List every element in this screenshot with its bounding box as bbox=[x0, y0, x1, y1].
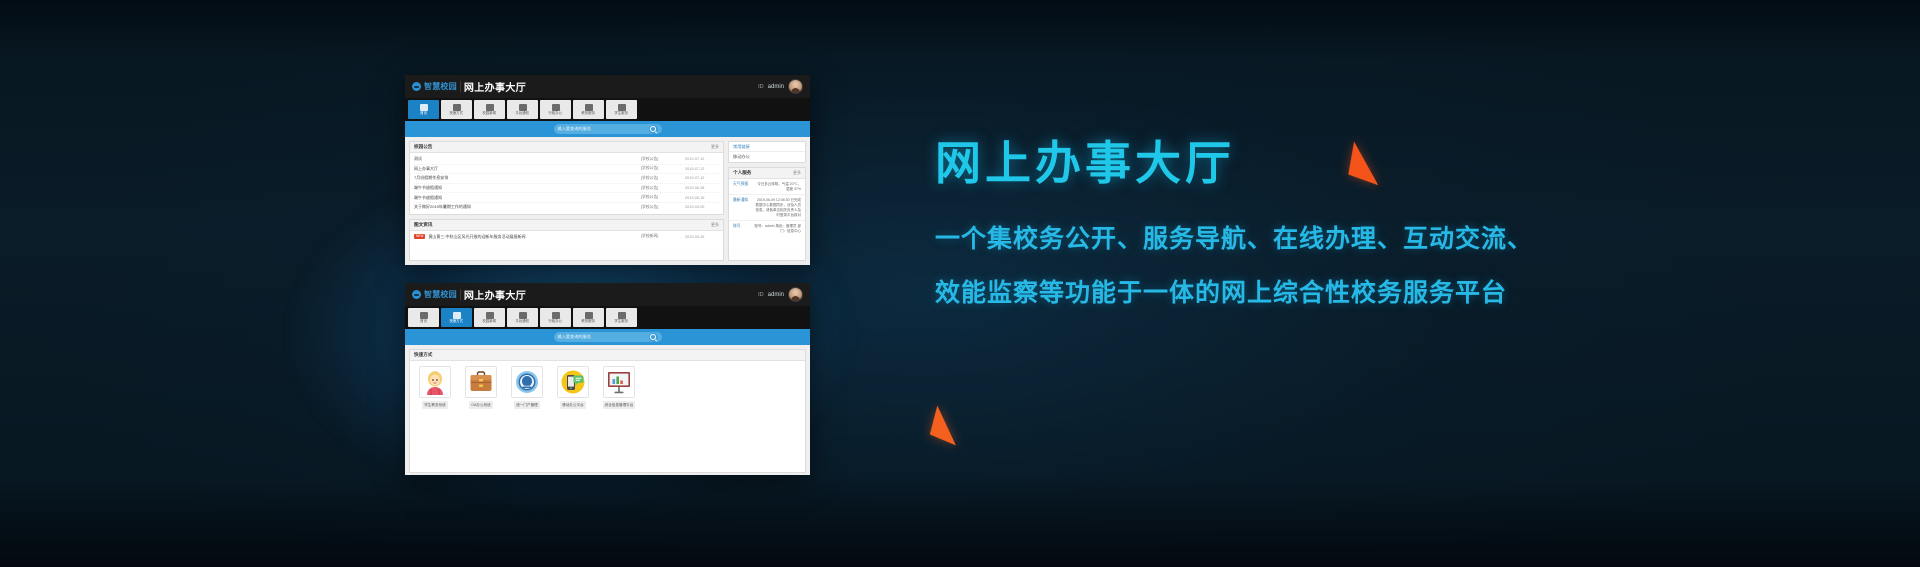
news-icon bbox=[486, 104, 494, 111]
shortcut-label: 学生教务系统 bbox=[422, 401, 448, 409]
news-card: 图文资讯 更多 NEW 黄山黄三:中秋山区风光开放的迎新年服务活动展报新闻 [学… bbox=[409, 219, 724, 261]
notice-date: 2019-07-12 bbox=[685, 167, 719, 171]
notice-tag: [学校公告] bbox=[641, 186, 685, 191]
sidebar-item-notice[interactable]: 平台通知 bbox=[507, 100, 538, 119]
window-titlebar-top: 智慧校园 网上办事大厅 ID admin bbox=[405, 75, 810, 98]
sidebar-item-home[interactable]: 首页 bbox=[408, 100, 439, 119]
book-icon bbox=[585, 104, 593, 111]
news-card-title: 图文资讯 bbox=[414, 222, 432, 228]
user-id-label-top: ID bbox=[758, 84, 764, 90]
list-item[interactable]: 关于做好2019年暑期工作的通知 [学校公告] 2019-03-09 bbox=[414, 203, 719, 212]
tab-label: 快速方式 bbox=[450, 320, 464, 323]
search-icon[interactable] bbox=[649, 333, 658, 342]
sidebar-item-student[interactable]: 学生服务 bbox=[606, 308, 637, 327]
tab-label: 平台通知 bbox=[516, 112, 530, 115]
search-bar-bottom: 输入要查询的服务 bbox=[405, 329, 810, 345]
info-card-title: 个人服务 bbox=[733, 170, 751, 176]
side-column-top: 常用链接 移动办公 个人服务 更多 天气预报 今日多云转阴，气温 20°C，湿度… bbox=[728, 141, 806, 261]
list-item[interactable]: 测试 [学校公告] 2019-07-12 bbox=[414, 155, 719, 165]
logo-mark-icon bbox=[412, 82, 421, 91]
window-body-bottom: 快速方式 bbox=[405, 345, 810, 475]
user-avatar-icon[interactable] bbox=[788, 287, 803, 302]
banner-top-fade bbox=[0, 0, 1920, 60]
list-item[interactable]: 学生教务系统 bbox=[416, 366, 454, 409]
tab-label: 校园新闻 bbox=[483, 112, 497, 115]
shortcut-label: 综合信息管理平台 bbox=[603, 401, 636, 409]
user-area-bottom[interactable]: ID admin bbox=[758, 287, 803, 302]
sidebar-item-notice[interactable]: 平台通知 bbox=[507, 308, 538, 327]
sidebar-item-home[interactable]: 首页 bbox=[408, 308, 439, 327]
news-icon bbox=[486, 312, 494, 319]
brand-logo-top: 智慧校园 bbox=[412, 81, 457, 92]
notice-card: 校园公告 更多 测试 [学校公告] 2019-07-12 网上办事大厅 [学校公… bbox=[409, 141, 724, 215]
news-more-link[interactable]: 更多 bbox=[711, 222, 719, 228]
window-title-bottom: 网上办事大厅 bbox=[464, 287, 526, 302]
info-card-body: 天气预报 今日多云转阴，气温 20°C，湿度 37% 最新通知 2019-06-… bbox=[729, 179, 805, 237]
tab-label: 学生服务 bbox=[615, 112, 629, 115]
promo-subtitle: 一个集校务公开、服务导航、在线办理、互动交流、 效能监察等功能于一体的网上综合性… bbox=[935, 226, 1735, 305]
home-icon bbox=[420, 312, 428, 319]
shortcut-label: 移动办公平台 bbox=[560, 401, 586, 409]
main-column-top: 校园公告 更多 测试 [学校公告] 2019-07-12 网上办事大厅 [学校公… bbox=[409, 141, 724, 261]
news-date: 2019-04-25 bbox=[685, 235, 719, 239]
list-item[interactable]: NEW 黄山黄三:中秋山区风光开放的迎新年服务活动展报新闻 [学校新闻] 201… bbox=[414, 233, 719, 242]
sidebar-item-shortcut[interactable]: 快速方式 bbox=[441, 308, 472, 327]
info-key: 最新通知 bbox=[733, 198, 751, 218]
presentation-chart-icon bbox=[603, 366, 635, 398]
student-girl-icon bbox=[419, 366, 451, 398]
notice-date: 2019-06-28 bbox=[685, 186, 719, 190]
notice-date: 2019-07-12 bbox=[685, 157, 719, 161]
logo-mark-icon bbox=[412, 290, 421, 299]
brand-word-top: 智慧校园 bbox=[424, 81, 457, 92]
sidebar-item-shortcut[interactable]: 快速方式 bbox=[441, 100, 472, 119]
news-card-header: 图文资讯 更多 bbox=[410, 220, 723, 231]
search-input[interactable]: 输入要查询的服务 bbox=[554, 332, 662, 342]
tab-label: 平台通知 bbox=[516, 320, 530, 323]
user-id-label-bottom: ID bbox=[758, 292, 764, 298]
window-title-top: 网上办事大厅 bbox=[464, 79, 526, 94]
search-bar-top: 输入要查询的服务 bbox=[405, 121, 810, 137]
brand-divider-bottom bbox=[460, 289, 461, 300]
briefcase-icon bbox=[465, 366, 497, 398]
tab-label: 学生服务 bbox=[615, 320, 629, 323]
screenshot-window-home: 智慧校园 网上办事大厅 ID admin 首页 快速方式 校园新闻 bbox=[405, 75, 810, 265]
notice-title: 端午节放假通知 bbox=[414, 185, 641, 191]
notice-tag: [学校公告] bbox=[641, 195, 685, 200]
notice-date: 2019-07-12 bbox=[685, 176, 719, 180]
personal-info-card: 个人服务 更多 天气预报 今日多云转阴，气温 20°C，湿度 37% 最新通知 … bbox=[728, 167, 806, 261]
search-icon[interactable] bbox=[649, 125, 658, 134]
tools-icon bbox=[552, 104, 560, 111]
shortcut-label: OA办公系统 bbox=[469, 401, 493, 409]
notice-icon bbox=[519, 312, 527, 319]
brand-logo-bottom: 智慧校园 bbox=[412, 289, 457, 300]
info-row-notice: 最新通知 2019-06-09 12:46:30 已完成数据中心数据同步，涉及人… bbox=[729, 195, 805, 221]
notice-icon bbox=[519, 104, 527, 111]
info-key: 天气预报 bbox=[733, 182, 751, 192]
window-nav-top: 首页 快速方式 校园新闻 平台通知 行政办公 教务服务 bbox=[405, 98, 810, 121]
notice-card-header: 校园公告 更多 bbox=[410, 142, 723, 153]
window-titlebar-bottom: 智慧校园 网上办事大厅 ID admin bbox=[405, 283, 810, 306]
sidebar-item-academic[interactable]: 教务服务 bbox=[573, 308, 604, 327]
notice-date: 2019-03-09 bbox=[685, 205, 719, 209]
student-icon bbox=[618, 104, 626, 111]
user-name-bottom: admin bbox=[768, 292, 784, 298]
shortcut-card-title: 快速方式 bbox=[414, 352, 432, 358]
sidebar-item-news[interactable]: 校园新闻 bbox=[474, 100, 505, 119]
list-item[interactable]: OA办公系统 bbox=[462, 366, 500, 409]
tab-label: 教务服务 bbox=[582, 320, 596, 323]
info-row-account: 账号 账号：admin 角色：管理员 部门：信息中心 bbox=[729, 221, 805, 236]
tab-label: 行政办公 bbox=[549, 112, 563, 115]
portal-badge-icon bbox=[511, 366, 543, 398]
notice-title: 端午节放假通知 bbox=[414, 195, 641, 201]
mobile-chat-icon bbox=[557, 366, 589, 398]
info-card-header: 个人服务 更多 bbox=[729, 168, 805, 179]
brand-word-bottom: 智慧校园 bbox=[424, 289, 457, 300]
tab-label: 首页 bbox=[420, 320, 427, 323]
notice-title: 测试 bbox=[414, 156, 641, 162]
shortcut-label: 统一门户管理 bbox=[514, 401, 540, 409]
notice-tag: [学校公告] bbox=[641, 166, 685, 171]
sidebar-item-academic[interactable]: 教务服务 bbox=[573, 100, 604, 119]
shortcut-icon bbox=[453, 312, 461, 319]
promo-text-block: 网上办事大厅 一个集校务公开、服务导航、在线办理、互动交流、 效能监察等功能于一… bbox=[935, 140, 1735, 305]
user-avatar-icon[interactable] bbox=[788, 79, 803, 94]
sidebar-item-news[interactable]: 校园新闻 bbox=[474, 308, 505, 327]
home-icon bbox=[420, 104, 428, 111]
list-item[interactable]: 端午节放假通知 [学校公告] 2019-05-16 bbox=[414, 193, 719, 203]
tab-label: 首页 bbox=[420, 112, 427, 115]
search-placeholder: 输入要查询的服务 bbox=[558, 126, 646, 132]
promo-subtitle-line-1: 一个集校务公开、服务导航、在线办理、互动交流、 bbox=[935, 226, 1735, 251]
promo-subtitle-line-2: 效能监察等功能于一体的网上综合性校务服务平台 bbox=[935, 280, 1735, 305]
info-value: 2019-06-09 12:46:30 已完成数据中心数据同步，涉及人员信息，请… bbox=[754, 198, 801, 218]
list-item[interactable]: 端午节放假通知 [学校公告] 2019-06-28 bbox=[414, 184, 719, 194]
banner-bottom-fade bbox=[0, 477, 1920, 567]
book-icon bbox=[585, 312, 593, 319]
news-card-body: NEW 黄山黄三:中秋山区风光开放的迎新年服务活动展报新闻 [学校新闻] 201… bbox=[410, 231, 723, 260]
tab-label: 行政办公 bbox=[549, 320, 563, 323]
brand-divider-top bbox=[460, 81, 461, 92]
list-item[interactable]: 移动办公平台 bbox=[554, 366, 592, 409]
notice-tag: [学校公告] bbox=[641, 157, 685, 162]
student-icon bbox=[618, 312, 626, 319]
status-badge: NEW bbox=[414, 234, 425, 239]
news-tag: [学校新闻] bbox=[641, 234, 685, 239]
tab-label: 教务服务 bbox=[582, 112, 596, 115]
page-title: 网上办事大厅 bbox=[935, 140, 1735, 186]
side-link-common[interactable]: 常用链接 bbox=[729, 142, 805, 152]
info-key: 账号 bbox=[733, 224, 751, 234]
info-row-weather: 天气预报 今日多云转阴，气温 20°C，湿度 37% bbox=[729, 179, 805, 195]
shortcut-card-header: 快速方式 bbox=[410, 350, 805, 361]
news-title: 黄山黄三:中秋山区风光开放的迎新年服务活动展报新闻 bbox=[428, 234, 641, 240]
shortcut-grid: 学生教务系统 bbox=[410, 361, 805, 414]
search-placeholder: 输入要查询的服务 bbox=[558, 334, 646, 340]
shortcut-icon bbox=[453, 104, 461, 111]
notice-more-link[interactable]: 更多 bbox=[711, 144, 719, 150]
list-item[interactable]: 7月份假期作息安排 [学校公告] 2019-07-12 bbox=[414, 174, 719, 184]
sidebar-item-admin[interactable]: 行政办公 bbox=[540, 308, 571, 327]
tools-icon bbox=[552, 312, 560, 319]
notice-title: 7月份假期作息安排 bbox=[414, 175, 641, 181]
window-body-top: 校园公告 更多 测试 [学校公告] 2019-07-12 网上办事大厅 [学校公… bbox=[405, 137, 810, 265]
tab-label: 校园新闻 bbox=[483, 320, 497, 323]
screenshot-window-shortcuts: 智慧校园 网上办事大厅 ID admin 首页 快速方式 校园新闻 bbox=[405, 283, 810, 475]
notice-tag: [学校公告] bbox=[641, 205, 685, 210]
list-item[interactable]: 网上办事大厅 [学校公告] 2019-07-12 bbox=[414, 165, 719, 175]
info-more-link[interactable]: 更多 bbox=[793, 170, 801, 176]
list-item[interactable]: 统一门户管理 bbox=[508, 366, 546, 409]
side-link-mobile[interactable]: 移动办公 bbox=[729, 152, 805, 162]
promo-banner: 智慧校园 网上办事大厅 ID admin 首页 快速方式 校园新闻 bbox=[0, 0, 1920, 567]
notice-title: 关于做好2019年暑期工作的通知 bbox=[414, 204, 641, 210]
quick-links-card: 常用链接 移动办公 bbox=[728, 141, 806, 163]
notice-date: 2019-05-16 bbox=[685, 196, 719, 200]
notice-card-title: 校园公告 bbox=[414, 144, 432, 150]
sidebar-item-admin[interactable]: 行政办公 bbox=[540, 100, 571, 119]
notice-title: 网上办事大厅 bbox=[414, 166, 641, 172]
sidebar-item-student[interactable]: 学生服务 bbox=[606, 100, 637, 119]
user-area-top[interactable]: ID admin bbox=[758, 79, 803, 94]
tab-label: 快速方式 bbox=[450, 112, 464, 115]
window-nav-bottom: 首页 快速方式 校园新闻 平台通知 行政办公 教务服务 bbox=[405, 306, 810, 329]
info-value: 今日多云转阴，气温 20°C，湿度 37% bbox=[754, 182, 801, 192]
notice-tag: [学校公告] bbox=[641, 176, 685, 181]
notice-card-body: 测试 [学校公告] 2019-07-12 网上办事大厅 [学校公告] 2019-… bbox=[410, 153, 723, 214]
info-value: 账号：admin 角色：管理员 部门：信息中心 bbox=[754, 224, 801, 234]
list-item[interactable]: 综合信息管理平台 bbox=[600, 366, 638, 409]
user-name-top: admin bbox=[768, 84, 784, 90]
shortcut-card: 快速方式 bbox=[409, 349, 806, 473]
search-input[interactable]: 输入要查询的服务 bbox=[554, 124, 662, 134]
